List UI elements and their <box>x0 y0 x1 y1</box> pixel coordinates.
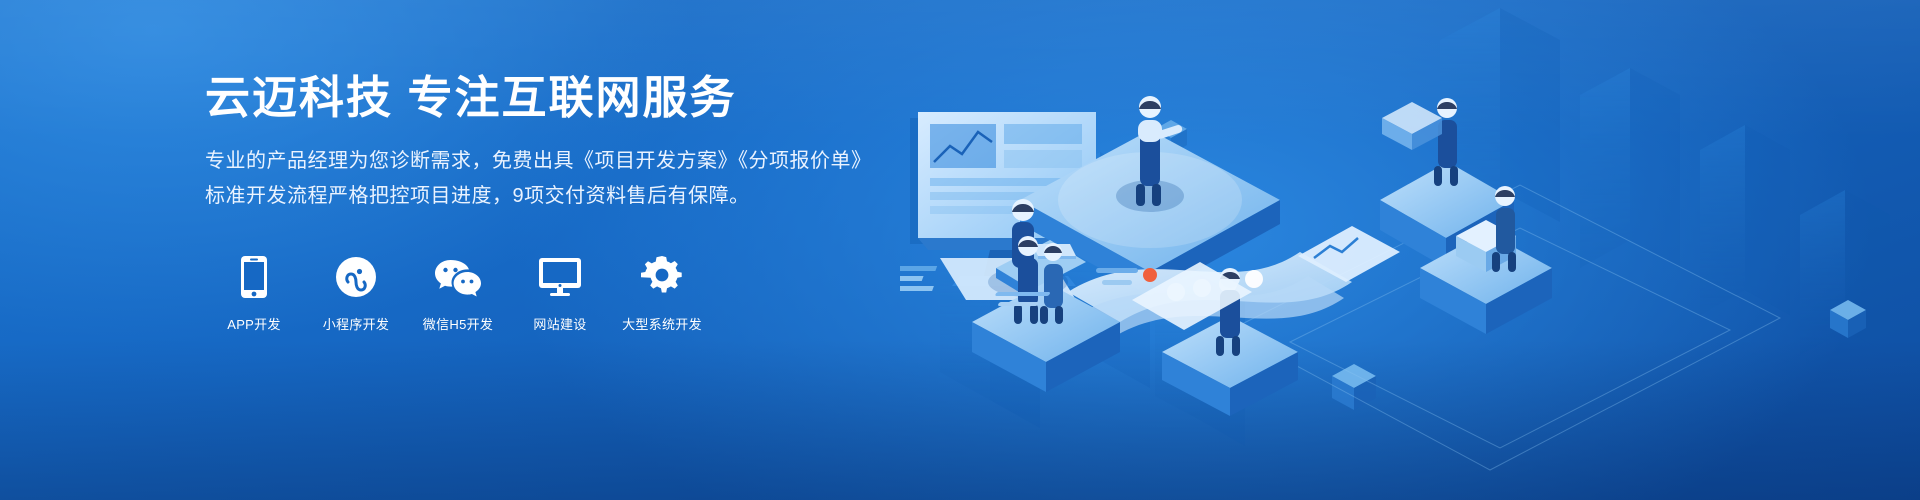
person-right-upper <box>1434 98 1458 186</box>
isometric-illustration <box>900 0 1920 500</box>
page-title: 云迈科技 专注互联网服务 <box>205 70 965 126</box>
floating-badge <box>1382 102 1442 150</box>
background-buildings <box>940 8 1890 446</box>
person-front-right <box>1216 268 1240 356</box>
hero-banner: 云迈科技 专注互联网服务 专业的产品经理为您诊断需求，免费出具《项目开发方案》《… <box>0 0 1920 500</box>
service-label: 大型系统开发 <box>622 314 702 333</box>
service-label: APP开发 <box>227 314 281 333</box>
ground-grid <box>1230 185 1780 470</box>
mini-program-icon <box>336 254 376 300</box>
person-front-left-b <box>1040 243 1063 324</box>
pedestal-front-left <box>972 282 1120 392</box>
service-label: 网站建设 <box>533 314 586 333</box>
service-label: 小程序开发 <box>323 314 390 333</box>
smartphone-icon <box>241 254 267 300</box>
floating-card-panel <box>995 262 1252 330</box>
service-item-large-system[interactable]: 大型系统开发 <box>625 254 699 333</box>
person-presenter <box>1116 96 1184 212</box>
banner-content: 云迈科技 专注互联网服务 专业的产品经理为您诊断需求，免费出具《项目开发方案》《… <box>205 70 965 333</box>
service-list: APP开发 小程序开发 <box>217 254 965 333</box>
person-seated-laptop <box>988 199 1086 300</box>
service-item-app[interactable]: APP开发 <box>217 254 291 333</box>
illustration-svg <box>900 0 1920 500</box>
wechat-icon <box>434 254 482 300</box>
person-right-middle <box>1492 186 1516 272</box>
service-item-website[interactable]: 网站建设 <box>523 254 597 333</box>
pedestal-front-right <box>1162 316 1298 416</box>
floating-cubes <box>1155 120 1866 410</box>
pedestal-right-middle <box>1420 220 1552 334</box>
subtitle-line-1: 专业的产品经理为您诊断需求，免费出具《项目开发方案》《分项报价单》 <box>205 144 965 179</box>
floating-card-chart <box>1298 226 1400 282</box>
subtitle-line-2: 标准开发流程严格把控项目进度，9项交付资料售后有保障。 <box>205 179 965 214</box>
monitor-icon <box>538 254 582 300</box>
gear-icon <box>641 254 683 300</box>
service-item-wechat-h5[interactable]: 微信H5开发 <box>421 254 495 333</box>
service-label: 微信H5开发 <box>423 314 493 333</box>
central-platform <box>1020 130 1280 296</box>
service-item-mini-program[interactable]: 小程序开发 <box>319 254 393 333</box>
pedestal-right-upper <box>1380 162 1514 268</box>
person-front-left-a <box>1014 236 1038 324</box>
data-ribbon <box>1068 252 1352 338</box>
